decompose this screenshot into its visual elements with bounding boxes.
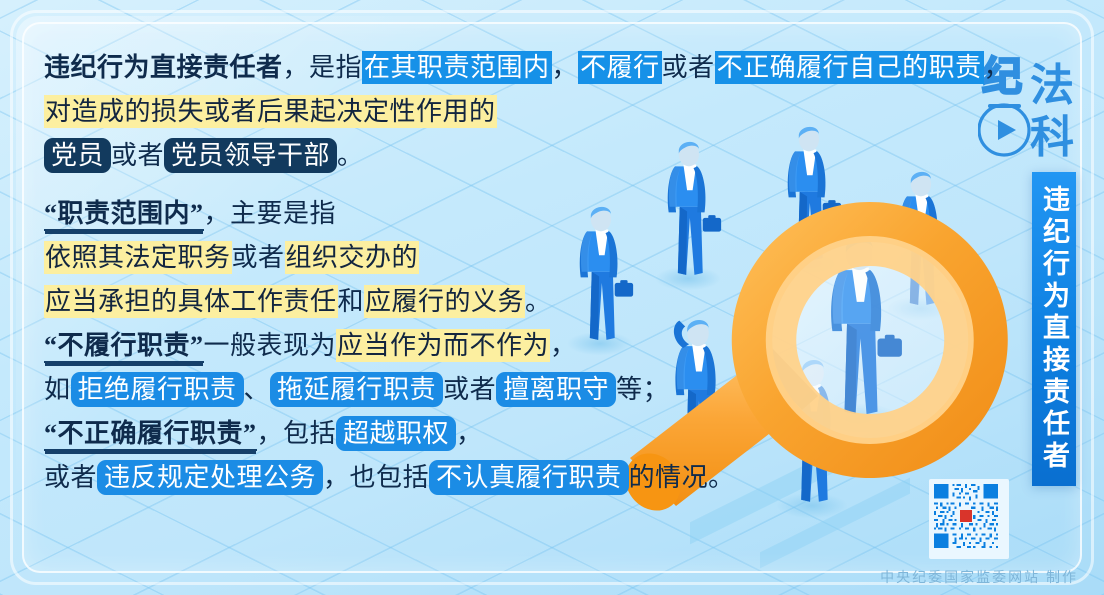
p2-line-2: 依照其法定职务或者组织交办的 bbox=[44, 236, 684, 280]
p4-l2-a: 或者 bbox=[44, 463, 97, 492]
p1-l2-a: 对造成的损失或者后果起决定性作用的 bbox=[44, 95, 497, 128]
p1-l3-b: 或者 bbox=[111, 141, 164, 170]
footer-credit: 中央纪委国家监委网站 制作 bbox=[880, 567, 1078, 587]
p4-l2-c: ，也包括 bbox=[323, 463, 429, 492]
qr-code[interactable] bbox=[929, 479, 1009, 559]
paragraph-3: “不履行职责”一般表现为应当作为而不作为， 如拒绝履行职责、拖延履行职责或者擅离… bbox=[44, 324, 684, 412]
p1-l1-g: 不正确履行自己的职责 bbox=[715, 51, 984, 84]
p1-line-2: 对造成的损失或者后果起决定性作用的 bbox=[44, 90, 684, 134]
p1-l3-d: 。 bbox=[337, 141, 364, 170]
p1-l1-f: 或者 bbox=[662, 53, 715, 82]
p4-l2-b: 违反规定处理公务 bbox=[97, 460, 323, 495]
p3-l2-d: 拖延履行职责 bbox=[270, 372, 443, 407]
p3-l1-a: “不履行职责” bbox=[44, 331, 204, 363]
p3-l2-g: 等； bbox=[616, 375, 669, 404]
p3-line-2: 如拒绝履行职责、拖延履行职责或者擅离职守等； bbox=[44, 368, 684, 412]
p3-l2-f: 擅离职守 bbox=[496, 372, 616, 407]
article-body: 违纪行为直接责任者，是指在其职责范围内，不履行或者不正确履行自己的职责， 对造成… bbox=[44, 46, 684, 500]
p3-l2-e: 或者 bbox=[443, 375, 496, 404]
p1-l3-c: 党员领导干部 bbox=[164, 138, 337, 173]
p2-l2-c: 组织交办的 bbox=[285, 241, 420, 274]
p4-l1-c: 超越职权 bbox=[336, 416, 456, 451]
p3-l2-b: 拒绝履行职责 bbox=[71, 372, 244, 407]
p4-l2-d: 不认真履行职责 bbox=[429, 460, 629, 495]
p4-l1-d: ， bbox=[456, 419, 483, 448]
p2-l3-a: 应当承担的具体工作责任 bbox=[44, 285, 338, 318]
p2-line-3: 应当承担的具体工作责任和应履行的义务。 bbox=[44, 280, 684, 324]
p2-l2-b: 或者 bbox=[232, 243, 285, 272]
p1-l1-e: 不履行 bbox=[578, 51, 662, 84]
vertical-banner-title: 违纪行为直接责任者 bbox=[1032, 172, 1076, 486]
p3-l1-b: 一般表现为 bbox=[204, 331, 337, 360]
iso-band-2 bbox=[760, 478, 910, 569]
p2-l1-b: ，主要是指 bbox=[204, 199, 337, 228]
poster-root: 纪 法 科 违纪行为直接责任者 违纪行为直接责任者，是指在其职责范围内，不履行或… bbox=[0, 0, 1104, 595]
p2-l1-a: “职责范围内” bbox=[44, 199, 204, 231]
paragraph-2: “职责范围内”，主要是指 依照其法定职务或者组织交办的 应当承担的具体工作责任和… bbox=[44, 192, 684, 324]
p3-l2-c: 、 bbox=[244, 375, 271, 404]
paragraph-1: 违纪行为直接责任者，是指在其职责范围内，不履行或者不正确履行自己的职责， 对造成… bbox=[44, 46, 684, 178]
p1-l1-d: ， bbox=[552, 53, 579, 82]
p3-l1-d: ， bbox=[550, 331, 577, 360]
p2-l3-d: 。 bbox=[525, 287, 552, 316]
paragraph-4: “不正确履行职责”，包括超越职权， 或者违反规定处理公务，也包括不认真履行职责的… bbox=[44, 412, 684, 500]
logo-char-fa: 法 bbox=[1030, 61, 1074, 110]
p1-line-3: 党员或者党员领导干部。 bbox=[44, 134, 684, 178]
p3-line-1: “不履行职责”一般表现为应当作为而不作为， bbox=[44, 324, 684, 368]
p1-l1-c: 在其职责范围内 bbox=[362, 51, 552, 84]
p1-l1-h: ， bbox=[984, 53, 1011, 82]
p4-l1-b: ，包括 bbox=[257, 419, 337, 448]
p2-l3-c: 应履行的义务 bbox=[364, 285, 525, 318]
p1-l3-a: 党员 bbox=[44, 138, 111, 173]
p1-l1-a: 违纪行为直接责任者 bbox=[44, 53, 283, 82]
p3-l2-a: 如 bbox=[44, 375, 71, 404]
logo-char-ke: 科 bbox=[1030, 113, 1074, 162]
p1-line-1: 违纪行为直接责任者，是指在其职责范围内，不履行或者不正确履行自己的职责， bbox=[44, 46, 684, 90]
p1-l1-b: ，是指 bbox=[283, 53, 363, 82]
p2-l2-a: 依照其法定职务 bbox=[44, 241, 232, 274]
p4-l2-e: 的情况。 bbox=[629, 463, 735, 492]
p2-line-1: “职责范围内”，主要是指 bbox=[44, 192, 684, 236]
p4-line-2: 或者违反规定处理公务，也包括不认真履行职责的情况。 bbox=[44, 456, 684, 500]
p4-line-1: “不正确履行职责”，包括超越职权， bbox=[44, 412, 684, 456]
p2-l3-b: 和 bbox=[338, 287, 365, 316]
logo-char-bai-play bbox=[979, 104, 1029, 155]
p3-l1-c: 应当作为而不作为 bbox=[336, 329, 550, 362]
p4-l1-a: “不正确履行职责” bbox=[44, 419, 257, 451]
